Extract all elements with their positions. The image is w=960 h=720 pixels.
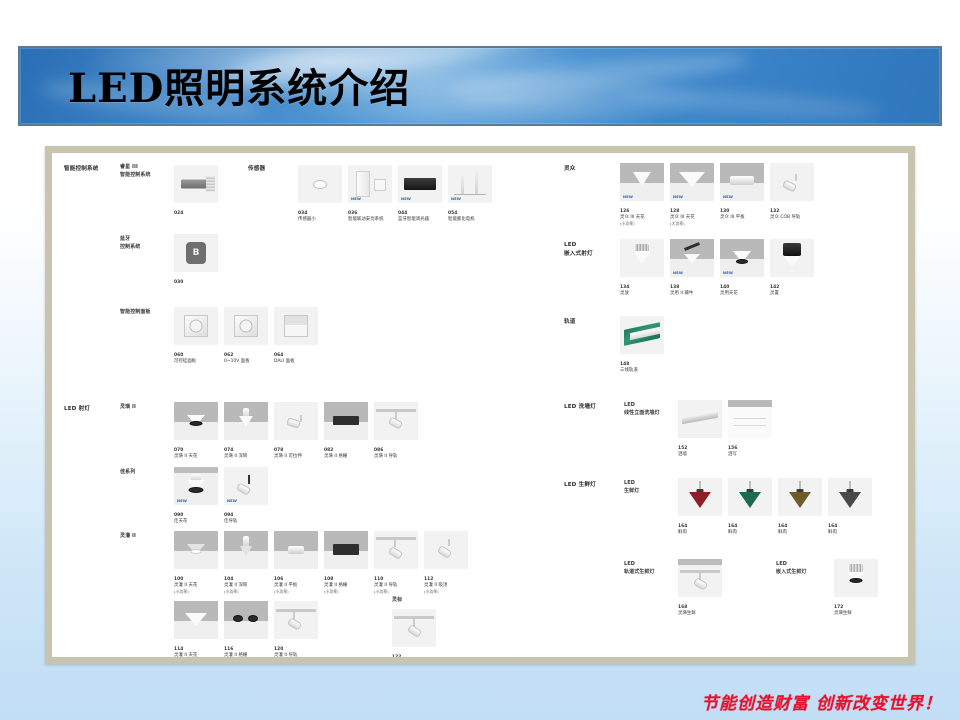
product-card[interactable]: NEW 090 佳天花 <box>174 467 218 525</box>
new-badge: NEW <box>227 499 237 503</box>
subsection-title-linghuang2: 灵璜 II <box>120 404 136 412</box>
product-caption: 090 佳天花 <box>174 507 218 525</box>
product-caption: 094 佳导轨 <box>224 507 268 525</box>
product-caption: 024 <box>174 205 218 217</box>
product-card[interactable]: 164 鲜肉 <box>678 478 722 536</box>
product-card[interactable]: 116 灵灌 II 格栅 (大功率) <box>224 601 268 657</box>
section-title-led-spotlight: LED 射灯 <box>64 405 90 414</box>
product-thumbnail-track-spot <box>274 601 318 639</box>
product-thumbnail-pendant-gold <box>778 478 822 516</box>
product-thumbnail-big-downlight: NEW <box>670 163 714 201</box>
product-card[interactable]: 034 传感器小 <box>298 165 342 223</box>
product-caption: 142 灵置 <box>770 279 814 297</box>
product-caption: 112 灵灌 II 吸顶 (小功率) <box>424 571 468 596</box>
product-thumbnail-tilt-spot: NEW <box>670 239 714 277</box>
product-card[interactable]: 120 灵灌 II 导轨 (大功率) <box>274 601 318 657</box>
product-card[interactable]: 134 灵放 <box>620 239 664 297</box>
product-thumbnail-flat-lamp <box>274 531 318 569</box>
product-row-recessed-spot: 134 灵放 NEW 138 灵用 II 输牛 <box>620 239 814 297</box>
product-thumbnail-antenna-motor: NEW <box>448 165 492 203</box>
cloud-wisp-icon <box>449 46 750 103</box>
subsection-title-recessed-fresh-light: LED 嵌入式生鲜灯 <box>776 561 807 576</box>
product-row-lingbiao: 122 灵标 <box>392 609 436 657</box>
product-caption: 152 洒墙 <box>678 440 722 458</box>
product-thumbnail-deep-can <box>224 531 268 569</box>
product-caption: 164 鲜肉 <box>778 518 822 536</box>
product-thumbnail-sensor <box>298 165 342 203</box>
product-card[interactable]: 132 灵众 COB 导轨 <box>770 163 814 228</box>
new-badge: NEW <box>177 499 187 503</box>
product-row-controller: 024 <box>174 165 218 217</box>
product-card[interactable]: 108 灵灌 II 格栅 (小功率) <box>324 531 368 596</box>
product-card[interactable]: 122 灵标 <box>392 609 436 657</box>
product-card[interactable]: 168 灵璜生鲜 <box>678 559 722 617</box>
footer-slogan: 节能创造财富 创新改变世界！ <box>701 689 942 714</box>
product-thumbnail-track-spot <box>678 559 722 597</box>
product-caption: 062 0~10V 面板 <box>224 347 268 365</box>
product-thumbnail-door-sensor: NEW <box>348 165 392 203</box>
catalog-left-column: 智能控制系统 睿星 III 智能控制系统 024 蓝牙 控制系统 <box>62 161 554 649</box>
product-caption: 034 传感器小 <box>298 205 342 223</box>
product-card[interactable]: 062 0~10V 面板 <box>224 307 268 365</box>
product-card[interactable]: 164 鲜肉 <box>728 478 772 536</box>
product-thumbnail-downlight: NEW <box>620 163 664 201</box>
product-row-panels: 060 可控硅面板 062 0~10V 面板 <box>174 307 318 365</box>
product-caption: 140 灵用天花 <box>720 279 764 297</box>
product-thumbnail-downlight <box>174 531 218 569</box>
product-thumbnail-wall-washer-scene <box>728 400 772 438</box>
product-thumbnail-deep-can <box>224 402 268 440</box>
product-card[interactable]: 172 灵璜生鲜 <box>834 559 878 617</box>
product-caption: 036 智能联动安亮系统 <box>348 205 392 223</box>
new-badge: NEW <box>673 271 683 275</box>
product-thumbnail-cob-downlight: NEW <box>174 467 218 505</box>
product-thumbnail-track-spot: NEW <box>224 467 268 505</box>
product-card[interactable]: NEW 036 智能联动安亮系统 <box>348 165 392 223</box>
product-card[interactable]: 142 灵置 <box>770 239 814 297</box>
product-caption: 116 灵灌 II 格栅 (大功率) <box>224 641 268 657</box>
product-caption: 168 灵璜生鲜 <box>678 599 722 617</box>
product-row-track: 148 三线轨道 <box>620 316 664 374</box>
product-row-recessed-fresh: 172 灵璜生鲜 <box>834 559 878 617</box>
product-thumbnail-driver <box>174 165 218 203</box>
subsection-title-jia-series: 佳系列 <box>120 469 135 477</box>
product-thumbnail-track-spot <box>392 609 436 647</box>
product-thumbnail-0-10v-panel <box>224 307 268 345</box>
product-caption: 126 灵众 III 天花 (小功率) <box>620 203 664 228</box>
product-row-jia-series: NEW 090 佳天花 NEW <box>174 467 268 525</box>
subsection-title-track-fresh-light: LED 轨道式生鲜灯 <box>624 561 655 576</box>
new-badge: NEW <box>623 195 633 199</box>
product-thumbnail-green-track <box>620 316 664 354</box>
product-caption: 130 灵众 III 平板 <box>720 203 764 221</box>
product-caption: 060 可控硅面板 <box>174 347 218 365</box>
product-caption: 164 鲜肉 <box>678 518 722 536</box>
subsection-title-linear-wall-washer: LED 线性立面洗墙灯 <box>624 402 660 417</box>
product-thumbnail-cob-downlight <box>620 239 664 277</box>
product-caption: 104 灵灌 II 深筒 (小功率) <box>224 571 268 596</box>
product-thumbnail-adjustable-spot <box>274 402 318 440</box>
product-row-wall-washer: 152 洒墙 156 洒写 <box>678 400 772 458</box>
section-title-smart-control: 智能控制系统 <box>64 165 98 174</box>
product-caption: 074 灵璜 II 深筒 <box>224 442 268 460</box>
product-card[interactable]: B 030 <box>174 234 218 286</box>
section-title-wall-washer: LED 洗墙灯 <box>564 403 596 412</box>
product-card[interactable]: 164 鲜肉 <box>828 478 872 536</box>
new-badge: NEW <box>673 195 683 199</box>
catalog-sheet: 智能控制系统 睿星 III 智能控制系统 024 蓝牙 控制系统 <box>52 153 908 657</box>
product-card[interactable]: 074 灵璜 II 深筒 <box>224 402 268 460</box>
product-card[interactable]: NEW 094 佳导轨 <box>224 467 268 525</box>
product-thumbnail-twin-head <box>224 601 268 639</box>
product-card[interactable]: 024 <box>174 165 218 217</box>
product-caption: 164 鲜肉 <box>728 518 772 536</box>
product-row-bluetooth: B 030 <box>174 234 218 286</box>
product-card[interactable]: NEW 044 蓝牙智能调光器 <box>398 165 442 223</box>
product-thumbnail-bt-dimmer: NEW <box>398 165 442 203</box>
product-caption: 030 <box>174 274 218 286</box>
product-card[interactable]: 110 灵灌 II 导轨 (小功率) <box>374 531 418 596</box>
product-card[interactable]: 106 灵灌 II 平板 (小功率) <box>274 531 318 596</box>
product-caption: 054 智能膨化电机 <box>448 205 492 223</box>
product-card[interactable]: 060 可控硅面板 <box>174 307 218 365</box>
subsection-title-ruixing: 睿星 III 智能控制系统 <box>120 164 151 179</box>
product-thumbnail-grille-light <box>324 531 368 569</box>
product-card[interactable]: NEW 140 灵用天花 <box>720 239 764 297</box>
section-title-fresh-food-light: LED 生鲜灯 <box>564 481 596 490</box>
product-caption: 078 灵璜 II 可拉伸 <box>274 442 318 460</box>
new-badge: NEW <box>401 197 411 201</box>
product-thumbnail-dali-panel <box>274 307 318 345</box>
product-caption: 100 灵灌 II 天花 (小功率) <box>174 571 218 596</box>
product-card[interactable]: 114 灵灌 II 天花 (大功率) <box>174 601 218 657</box>
product-thumbnail-grille-light <box>324 402 368 440</box>
slide-title-banner: LED照明系统介绍 <box>18 46 942 126</box>
product-caption: 086 灵璜 II 导轨 <box>374 442 418 460</box>
product-caption: 122 灵标 <box>392 649 436 657</box>
product-caption: 044 蓝牙智能调光器 <box>398 205 442 223</box>
product-thumbnail-black-cob <box>770 239 814 277</box>
product-card[interactable]: 148 三线轨道 <box>620 316 664 374</box>
subsection-title-control-panel: 智能控制面板 <box>120 309 151 317</box>
product-thumbnail-wall-washer <box>678 400 722 438</box>
product-card[interactable]: 078 灵璜 II 可拉伸 <box>274 402 318 460</box>
product-card[interactable]: 086 灵璜 II 导轨 <box>374 402 418 460</box>
product-card[interactable]: 112 灵灌 II 吸顶 (小功率) <box>424 531 468 596</box>
product-caption: 114 灵灌 II 天花 (大功率) <box>174 641 218 657</box>
product-card[interactable]: 156 洒写 <box>728 400 772 458</box>
new-badge: NEW <box>723 195 733 199</box>
product-row-lingzhong: NEW 126 灵众 III 天花 (小功率) NEW <box>620 163 814 228</box>
product-row-lingguan2-high: 114 灵灌 II 天花 (大功率) 116 灵灌 <box>174 601 318 657</box>
product-caption: 106 灵灌 II 平板 (小功率) <box>274 571 318 596</box>
catalog-frame: 智能控制系统 睿星 III 智能控制系统 024 蓝牙 控制系统 <box>45 146 915 664</box>
product-card[interactable]: NEW 126 灵众 III 天花 (小功率) <box>620 163 664 228</box>
section-title-sensor: 传感器 <box>248 165 265 174</box>
subsection-title-fresh-food-light: LED 生鲜灯 <box>624 480 639 495</box>
product-caption: 108 灵灌 II 格栅 (小功率) <box>324 571 368 596</box>
subsection-title-lingbiao: 灵标 <box>392 597 402 605</box>
new-badge: NEW <box>451 197 461 201</box>
product-thumbnail-track-spot <box>374 531 418 569</box>
product-thumbnail-cob-downlight <box>834 559 878 597</box>
product-card[interactable]: NEW 054 智能膨化电机 <box>448 165 492 223</box>
product-thumbnail-pendant-grey <box>828 478 872 516</box>
product-card[interactable]: 070 灵璜 II 天花 <box>174 402 218 460</box>
product-thumbnail-dimmer-panel <box>174 307 218 345</box>
product-caption: 172 灵璜生鲜 <box>834 599 878 617</box>
product-thumbnail-pendant-green <box>728 478 772 516</box>
product-card[interactable]: 164 鲜肉 <box>778 478 822 536</box>
product-thumbnail-cob-track <box>770 163 814 201</box>
product-card[interactable]: NEW 130 灵众 III 平板 <box>720 163 764 228</box>
section-title-track: 轨道 <box>564 318 576 327</box>
catalog-content: 智能控制系统 睿星 III 智能控制系统 024 蓝牙 控制系统 <box>62 161 898 649</box>
product-caption: 148 三线轨道 <box>620 356 664 374</box>
product-row-track-fresh: 168 灵璜生鲜 <box>678 559 722 617</box>
section-title-lingzhong: 灵众 <box>564 165 576 174</box>
product-caption: 132 灵众 COB 导轨 <box>770 203 814 221</box>
product-card[interactable]: 082 灵璜 II 格栅 <box>324 402 368 460</box>
product-thumbnail-downlight: NEW <box>720 239 764 277</box>
product-card[interactable]: 064 DALI 面板 <box>274 307 318 365</box>
product-caption: 070 灵璜 II 天花 <box>174 442 218 460</box>
product-caption: 110 灵灌 II 导轨 (小功率) <box>374 571 418 596</box>
product-caption: 064 DALI 面板 <box>274 347 318 365</box>
product-card[interactable]: NEW 138 灵用 II 输牛 <box>670 239 714 297</box>
product-card[interactable]: 100 灵灌 II 天花 (小功率) <box>174 531 218 596</box>
product-row-lingguan2-low: 100 灵灌 II 天花 (小功率) 104 灵灌 <box>174 531 468 596</box>
product-thumbnail-track-spot <box>374 402 418 440</box>
product-thumbnail-downlight <box>174 601 218 639</box>
product-card[interactable]: NEW 128 灵众 III 天花 (大功率) <box>670 163 714 228</box>
new-badge: NEW <box>723 271 733 275</box>
product-row-linghuang2: 070 灵璜 II 天花 074 灵璜 II 深筒 <box>174 402 418 460</box>
product-caption: 138 灵用 II 输牛 <box>670 279 714 297</box>
product-caption: 082 灵璜 II 格栅 <box>324 442 368 460</box>
product-caption: 164 鲜肉 <box>828 518 872 536</box>
product-thumbnail-downlight <box>174 402 218 440</box>
product-caption: 156 洒写 <box>728 440 772 458</box>
product-caption: 120 灵灌 II 导轨 (大功率) <box>274 641 318 657</box>
cloud-wisp-icon <box>620 83 881 123</box>
page-title: LED照明系统介绍 <box>68 56 410 114</box>
product-thumbnail-surface-spot <box>424 531 468 569</box>
product-row-sensors: 034 传感器小 NEW 036 智能联动安亮系统 <box>298 165 492 223</box>
subsection-title-bluetooth: 蓝牙 控制系统 <box>120 236 140 251</box>
product-caption: 128 灵众 III 天花 (大功率) <box>670 203 714 228</box>
catalog-right-column: 灵众 NEW 126 灵众 III 天花 (小功率) <box>562 161 904 649</box>
new-badge: NEW <box>351 197 361 201</box>
product-thumbnail-flat-lamp: NEW <box>720 163 764 201</box>
subsection-title-lingguan2: 灵灌 II <box>120 533 136 541</box>
product-caption: 134 灵放 <box>620 279 664 297</box>
section-title-recessed-spot: LED 嵌入式射灯 <box>564 241 593 258</box>
product-thumbnail-bluetooth-module: B <box>174 234 218 272</box>
product-card[interactable]: 152 洒墙 <box>678 400 722 458</box>
product-thumbnail-pendant-red <box>678 478 722 516</box>
product-row-fresh-pendants: 164 鲜肉 164 鲜肉 <box>678 478 872 536</box>
product-card[interactable]: 104 灵灌 II 深筒 (小功率) <box>224 531 268 596</box>
